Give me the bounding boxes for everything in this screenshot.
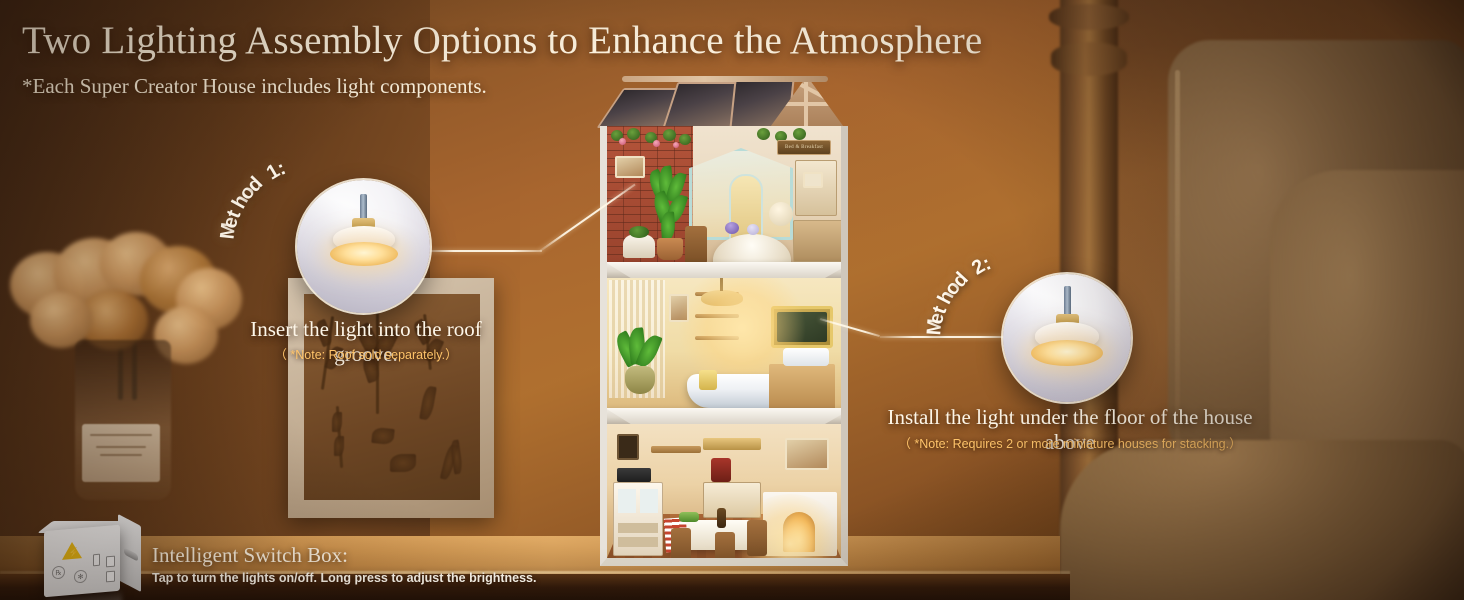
callout-line-method2-horizontal bbox=[880, 336, 1014, 338]
miniature-dollhouse: Bed & Breakfast bbox=[600, 72, 848, 566]
sink-basin bbox=[783, 348, 829, 366]
kitchen-counter bbox=[703, 482, 761, 518]
switch-box-description: Tap to turn the lights on/off. Long pres… bbox=[152, 571, 536, 585]
wine-bottle bbox=[717, 508, 726, 528]
display-cabinet bbox=[795, 160, 837, 216]
high-voltage-warning-icon bbox=[62, 541, 82, 560]
barcode-label bbox=[93, 554, 100, 567]
wooden-chair bbox=[685, 226, 707, 264]
method1-badge: Method 1: bbox=[312, 152, 522, 262]
terracotta-pot bbox=[657, 238, 683, 260]
bathroom-vanity bbox=[769, 364, 835, 410]
sideboard bbox=[793, 220, 843, 262]
framed-art bbox=[669, 294, 689, 322]
qr-code-icon bbox=[106, 571, 115, 583]
page-title: Two Lighting Assembly Options to Enhance… bbox=[22, 18, 982, 63]
roof-ridge-beam bbox=[622, 76, 828, 82]
dollhouse-floor-bathroom bbox=[600, 278, 848, 424]
shop-sign-text: Bed & Breakfast bbox=[778, 141, 830, 154]
food-platter bbox=[679, 512, 699, 522]
pendant-lamp bbox=[701, 290, 743, 306]
dollhouse-roof bbox=[604, 72, 844, 130]
bread-basket bbox=[617, 468, 651, 482]
straw-hat bbox=[769, 202, 793, 226]
promo-banner: Bed & Breakfast bbox=[0, 0, 1464, 600]
wall-picture bbox=[615, 156, 645, 178]
vase-label bbox=[82, 424, 160, 482]
coffee-machine bbox=[711, 458, 731, 482]
ceramic-planter bbox=[625, 366, 655, 394]
gilded-mirror bbox=[771, 306, 833, 348]
teapot bbox=[725, 222, 739, 234]
botanical-picture-frame bbox=[288, 278, 494, 518]
sofa-seat-cushion bbox=[1060, 440, 1464, 600]
dollhouse-floor-conservatory: Bed & Breakfast bbox=[600, 126, 848, 278]
method1-note: （ *Note: Roof sold separately.） bbox=[216, 344, 516, 363]
wall-clock bbox=[803, 172, 823, 188]
page-subtitle: *Each Super Creator House includes light… bbox=[22, 74, 487, 99]
fireplace-fire bbox=[783, 512, 815, 552]
landscape-painting bbox=[785, 438, 829, 470]
teacup bbox=[747, 224, 759, 235]
kitchen-hutch bbox=[613, 482, 663, 556]
method2-note: （ *Note: Requires 2 or more miniature ho… bbox=[865, 433, 1275, 452]
floor-slab-2 bbox=[605, 408, 848, 424]
method2-badge: Method 2: bbox=[1017, 247, 1227, 357]
shop-sign: Bed & Breakfast bbox=[777, 140, 831, 155]
recycle-icon bbox=[106, 556, 115, 568]
dining-chair bbox=[671, 528, 691, 562]
bath-towel bbox=[699, 370, 717, 390]
dining-chair bbox=[747, 520, 767, 556]
floor-slab-1 bbox=[605, 262, 848, 278]
framed-photo bbox=[617, 434, 639, 460]
dollhouse-floor-kitchen bbox=[600, 424, 848, 566]
dining-chair bbox=[715, 532, 735, 564]
intelligent-switch-box-product: ℞ ✻ bbox=[40, 518, 145, 598]
switch-box-title: Intelligent Switch Box: bbox=[152, 543, 348, 568]
